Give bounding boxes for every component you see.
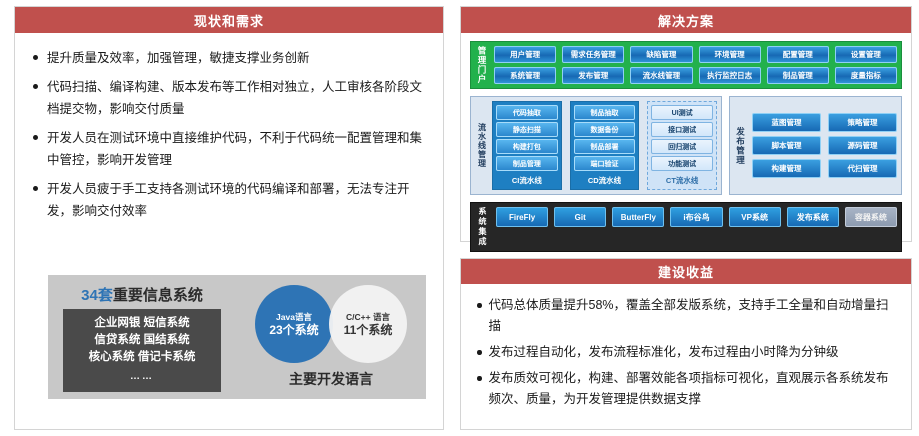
panel-current-status: 现状和需求 提升质量及效率，加强管理，敏捷支撑业务创新 代码扫描、编译构建、版本… bbox=[14, 6, 444, 430]
pipeline-step[interactable]: 静态扫描 bbox=[496, 122, 558, 137]
portal-module[interactable]: 需求任务管理 bbox=[562, 46, 624, 63]
pipeline-name: CT流水线 bbox=[651, 174, 713, 186]
bullet-text: 代码总体质量提升58%，覆盖全部发版系统，支持手工全量和自动增量扫描 bbox=[489, 295, 898, 337]
portal-module[interactable]: 度量指标 bbox=[835, 67, 897, 84]
integration-system[interactable]: i布谷鸟 bbox=[670, 207, 722, 227]
venn-diagram: Java语言 23个系统 C/C++ 语言 11个系统 bbox=[255, 285, 407, 363]
list-item: 代码总体质量提升58%，覆盖全部发版系统，支持手工全量和自动增量扫描 bbox=[475, 295, 897, 337]
pipeline-layer-label: 流水线管理 bbox=[475, 101, 488, 190]
integration-system-list: FireFly Git ButterFly i布谷鸟 VP系统 发布系统 容器系… bbox=[496, 207, 897, 247]
benefit-bullet-list: 代码总体质量提升58%，覆盖全部发版系统，支持手工全量和自动增量扫描 发布过程自… bbox=[461, 284, 911, 410]
venn-circle-java: Java语言 23个系统 bbox=[255, 285, 333, 363]
portal-module[interactable]: 流水线管理 bbox=[630, 67, 692, 84]
pipeline-column-ct: UI测试 接口测试 回归测试 功能测试 CT流水线 bbox=[647, 101, 717, 190]
architecture-diagram: 管理门户 用户管理 需求任务管理 缺陷管理 环境管理 配置管理 设置管理 系统管… bbox=[461, 33, 911, 260]
pipeline-management-box: 流水线管理 代码抽取 静态扫描 构建打包 制品管理 CI流水线 制品抽取 数据备… bbox=[470, 96, 722, 195]
slide-canvas: 现状和需求 提升质量及效率，加强管理，敏捷支撑业务创新 代码扫描、编译构建、版本… bbox=[0, 0, 919, 436]
panel-benefit-title: 建设收益 bbox=[461, 259, 911, 284]
list-item: 开发人员在测试环境中直接维护代码，不利于代码统一配置管理和集中管控，影响开发管理 bbox=[31, 127, 427, 171]
systems-count-block: 34套重要信息系统 企业网银 短信系统 信贷系统 国结系统 核心系统 借记卡系统… bbox=[48, 275, 236, 399]
portal-module[interactable]: 缺陷管理 bbox=[630, 46, 692, 63]
bullet-text: 代码扫描、编译构建、版本发布等工作相对独立，人工审核各阶段文档提交物，影响交付质… bbox=[47, 76, 427, 120]
integration-system[interactable]: 发布系统 bbox=[787, 207, 839, 227]
pipeline-step[interactable]: 构建打包 bbox=[496, 139, 558, 154]
pipeline-column-ci: 代码抽取 静态扫描 构建打包 制品管理 CI流水线 bbox=[492, 101, 562, 190]
release-module[interactable]: 构建管理 bbox=[752, 159, 821, 178]
bullet-text: 提升质量及效率，加强管理，敏捷支撑业务创新 bbox=[47, 47, 427, 69]
bullet-text: 开发人员在测试环境中直接维护代码，不利于代码统一配置管理和集中管控，影响开发管理 bbox=[47, 127, 427, 171]
venn-circle-cpp: C/C++ 语言 11个系统 bbox=[329, 285, 407, 363]
integration-system[interactable]: ButterFly bbox=[612, 207, 664, 227]
list-item: 开发人员疲于手工支持各测试环境的代码编译和部署，无法专注开发，影响交付效率 bbox=[31, 178, 427, 222]
pipeline-step[interactable]: 端口验证 bbox=[574, 156, 636, 171]
architecture-layer-portal: 管理门户 用户管理 需求任务管理 缺陷管理 环境管理 配置管理 设置管理 系统管… bbox=[470, 41, 902, 89]
architecture-layer-integration: 系统集成 FireFly Git ButterFly i布谷鸟 VP系统 发布系… bbox=[470, 202, 902, 252]
release-module[interactable]: 源码管理 bbox=[828, 136, 897, 155]
pipeline-step[interactable]: 制品抽取 bbox=[574, 105, 636, 120]
venn-java-count: 23个系统 bbox=[269, 323, 318, 338]
bullet-dot-icon bbox=[477, 376, 482, 381]
pipeline-step[interactable]: 接口测试 bbox=[651, 122, 713, 137]
current-status-bullet-list: 提升质量及效率，加强管理，敏捷支撑业务创新 代码扫描、编译构建、版本发布等工作相… bbox=[15, 33, 443, 222]
release-layer-label: 发布管理 bbox=[734, 101, 747, 190]
bullet-text: 开发人员疲于手工支持各测试环境的代码编译和部署，无法专注开发，影响交付效率 bbox=[47, 178, 427, 222]
pipeline-step[interactable]: 功能测试 bbox=[651, 156, 713, 171]
portal-layer-label: 管理门户 bbox=[475, 46, 489, 84]
pipeline-name: CI流水线 bbox=[496, 174, 558, 186]
integration-system[interactable]: 容器系统 bbox=[845, 207, 897, 227]
pipeline-step[interactable]: 数据备份 bbox=[574, 122, 636, 137]
pipeline-columns: 代码抽取 静态扫描 构建打包 制品管理 CI流水线 制品抽取 数据备份 制品部署… bbox=[492, 101, 717, 190]
systems-name-line: 企业网银 短信系统 bbox=[63, 315, 221, 332]
panel-current-status-title: 现状和需求 bbox=[15, 7, 443, 33]
integration-system[interactable]: VP系统 bbox=[729, 207, 781, 227]
pipeline-step[interactable]: 制品部署 bbox=[574, 139, 636, 154]
systems-name-line: 信贷系统 国结系统 bbox=[63, 332, 221, 349]
list-item: 代码扫描、编译构建、版本发布等工作相对独立，人工审核各阶段文档提交物，影响交付质… bbox=[31, 76, 427, 120]
bullet-dot-icon bbox=[33, 135, 38, 140]
list-item: 提升质量及效率，加强管理，敏捷支撑业务创新 bbox=[31, 47, 427, 69]
pipeline-step[interactable]: UI测试 bbox=[651, 105, 713, 120]
panel-solution-title: 解决方案 bbox=[461, 7, 911, 33]
portal-module[interactable]: 设置管理 bbox=[835, 46, 897, 63]
portal-module[interactable]: 执行监控日志 bbox=[699, 67, 761, 84]
bullet-text: 发布过程自动化，发布流程标准化，发布过程由小时降为分钟级 bbox=[489, 342, 898, 363]
systems-infographic: 34套重要信息系统 企业网银 短信系统 信贷系统 国结系统 核心系统 借记卡系统… bbox=[48, 275, 426, 399]
language-venn-block: Java语言 23个系统 C/C++ 语言 11个系统 主要开发语言 bbox=[236, 275, 426, 399]
venn-java-label: Java语言 bbox=[276, 311, 312, 323]
pipeline-step[interactable]: 代码抽取 bbox=[496, 105, 558, 120]
integration-system[interactable]: FireFly bbox=[496, 207, 548, 227]
bullet-text: 发布质效可视化，构建、部署效能各项指标可视化，直观展示各系统发布频次、质量，为开… bbox=[489, 368, 898, 410]
systems-name-box: 企业网银 短信系统 信贷系统 国结系统 核心系统 借记卡系统 …… bbox=[63, 309, 221, 392]
bullet-dot-icon bbox=[477, 303, 482, 308]
integration-layer-label: 系统集成 bbox=[475, 207, 491, 247]
bullet-dot-icon bbox=[33, 84, 38, 89]
panel-solution: 解决方案 管理门户 用户管理 需求任务管理 缺陷管理 环境管理 配置管理 设置管… bbox=[460, 6, 912, 242]
venn-cpp-count: 11个系统 bbox=[344, 323, 393, 338]
venn-cpp-label: C/C++ 语言 bbox=[346, 311, 390, 323]
release-module[interactable]: 策略管理 bbox=[828, 113, 897, 132]
panel-benefit: 建设收益 代码总体质量提升58%，覆盖全部发版系统，支持手工全量和自动增量扫描 … bbox=[460, 258, 912, 430]
portal-module[interactable]: 发布管理 bbox=[562, 67, 624, 84]
portal-module[interactable]: 环境管理 bbox=[699, 46, 761, 63]
release-module[interactable]: 代扫管理 bbox=[828, 159, 897, 178]
list-item: 发布质效可视化，构建、部署效能各项指标可视化，直观展示各系统发布频次、质量，为开… bbox=[475, 368, 897, 410]
portal-module[interactable]: 系统管理 bbox=[494, 67, 556, 84]
architecture-layer-middle: 流水线管理 代码抽取 静态扫描 构建打包 制品管理 CI流水线 制品抽取 数据备… bbox=[470, 96, 902, 195]
systems-count-title: 34套重要信息系统 bbox=[81, 284, 203, 305]
systems-count-label: 重要信息系统 bbox=[113, 287, 203, 304]
portal-module-grid: 用户管理 需求任务管理 缺陷管理 环境管理 配置管理 设置管理 系统管理 发布管… bbox=[494, 46, 897, 84]
integration-system[interactable]: Git bbox=[554, 207, 606, 227]
portal-module[interactable]: 制品管理 bbox=[767, 67, 829, 84]
bullet-dot-icon bbox=[477, 350, 482, 355]
release-module-grid: 蓝图管理 策略管理 脚本管理 源码管理 构建管理 代扫管理 bbox=[752, 101, 897, 190]
systems-name-line: 核心系统 借记卡系统 bbox=[63, 349, 221, 366]
list-item: 发布过程自动化，发布流程标准化，发布过程由小时降为分钟级 bbox=[475, 342, 897, 363]
systems-ellipsis: …… bbox=[63, 368, 221, 385]
portal-module[interactable]: 配置管理 bbox=[767, 46, 829, 63]
pipeline-name: CD流水线 bbox=[574, 174, 636, 186]
bullet-dot-icon bbox=[33, 186, 38, 191]
release-module[interactable]: 脚本管理 bbox=[752, 136, 821, 155]
release-module[interactable]: 蓝图管理 bbox=[752, 113, 821, 132]
bullet-dot-icon bbox=[33, 55, 38, 60]
systems-count-number: 34套 bbox=[81, 287, 113, 304]
pipeline-step[interactable]: 制品管理 bbox=[496, 156, 558, 171]
pipeline-step[interactable]: 回归测试 bbox=[651, 139, 713, 154]
pipeline-column-cd: 制品抽取 数据备份 制品部署 端口验证 CD流水线 bbox=[570, 101, 640, 190]
venn-caption: 主要开发语言 bbox=[289, 369, 373, 389]
portal-module[interactable]: 用户管理 bbox=[494, 46, 556, 63]
release-management-box: 发布管理 蓝图管理 策略管理 脚本管理 源码管理 构建管理 代扫管理 bbox=[729, 96, 902, 195]
